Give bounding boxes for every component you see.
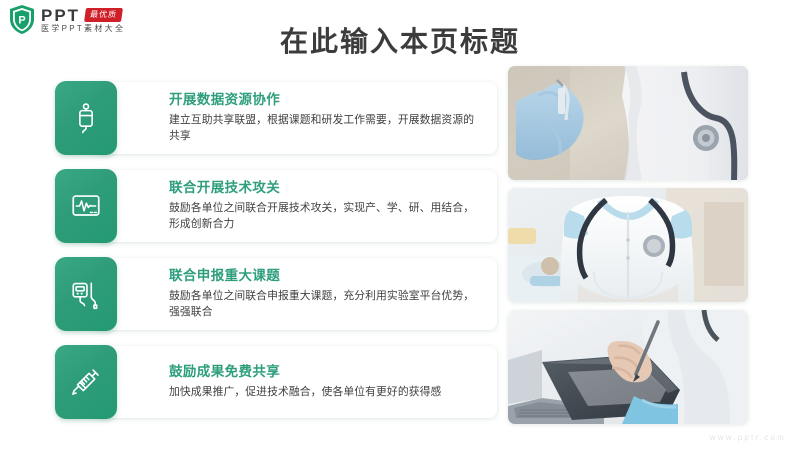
feature-card[interactable]: 开展数据资源协作 建立互助共享联盟，根据课题和研发工作需要，开展数据资源的共享 (55, 78, 497, 158)
feature-card-desc: 加快成果推广，促进技术融合，使各单位有更好的获得感 (169, 384, 481, 400)
photo-column (508, 66, 748, 424)
syringe-icon (55, 345, 117, 419)
photo-doctor-gloves-syringe (508, 66, 748, 180)
feature-card[interactable]: 联合开展技术攻关 鼓励各单位之间联合开展技术攻关，实现产、学、研、用结合，形成创… (55, 166, 497, 246)
feature-card-desc: 建立互助共享联盟，根据课题和研发工作需要，开展数据资源的共享 (169, 112, 481, 144)
photo-nurse-stethoscope (508, 188, 748, 302)
feature-card-title: 联合申报重大课题 (169, 268, 481, 285)
feature-card-title: 开展数据资源协作 (169, 92, 481, 109)
watermark: www.pptr.com (710, 433, 786, 442)
feature-card[interactable]: 鼓励成果免费共享 加快成果推广，促进技术融合，使各单位有更好的获得感 (55, 342, 497, 422)
iv-drip-icon (55, 81, 117, 155)
feature-card-desc: 鼓励各单位之间联合开展技术攻关，实现产、学、研、用结合，形成创新合力 (169, 200, 481, 232)
feature-card-title: 联合开展技术攻关 (169, 180, 481, 197)
ecg-monitor-icon (55, 169, 117, 243)
infusion-pump-icon (55, 257, 117, 331)
feature-card-desc: 鼓励各单位之间联合申报重大课题，充分利用实验室平台优势，强强联合 (169, 288, 481, 320)
feature-card[interactable]: 联合申报重大课题 鼓励各单位之间联合申报重大课题，充分利用实验室平台优势，强强联… (55, 254, 497, 334)
photo-doctor-writing-clipboard (508, 310, 748, 424)
feature-card-body: 联合开展技术攻关 鼓励各单位之间联合开展技术攻关，实现产、学、研、用结合，形成创… (93, 170, 497, 242)
feature-card-body: 联合申报重大课题 鼓励各单位之间联合申报重大课题，充分利用实验室平台优势，强强联… (93, 258, 497, 330)
feature-card-title: 鼓励成果免费共享 (169, 364, 481, 381)
feature-card-list: 开展数据资源协作 建立互助共享联盟，根据课题和研发工作需要，开展数据资源的共享 … (55, 78, 497, 422)
feature-card-body: 鼓励成果免费共享 加快成果推广，促进技术融合，使各单位有更好的获得感 (93, 346, 497, 418)
feature-card-body: 开展数据资源协作 建立互助共享联盟，根据课题和研发工作需要，开展数据资源的共享 (93, 82, 497, 154)
page-title: 在此输入本页标题 (0, 20, 800, 60)
slide: P PPT 最优质 医学PPT素材大全 在此输入本页标题 开展数据资源协作 建立… (0, 0, 800, 450)
